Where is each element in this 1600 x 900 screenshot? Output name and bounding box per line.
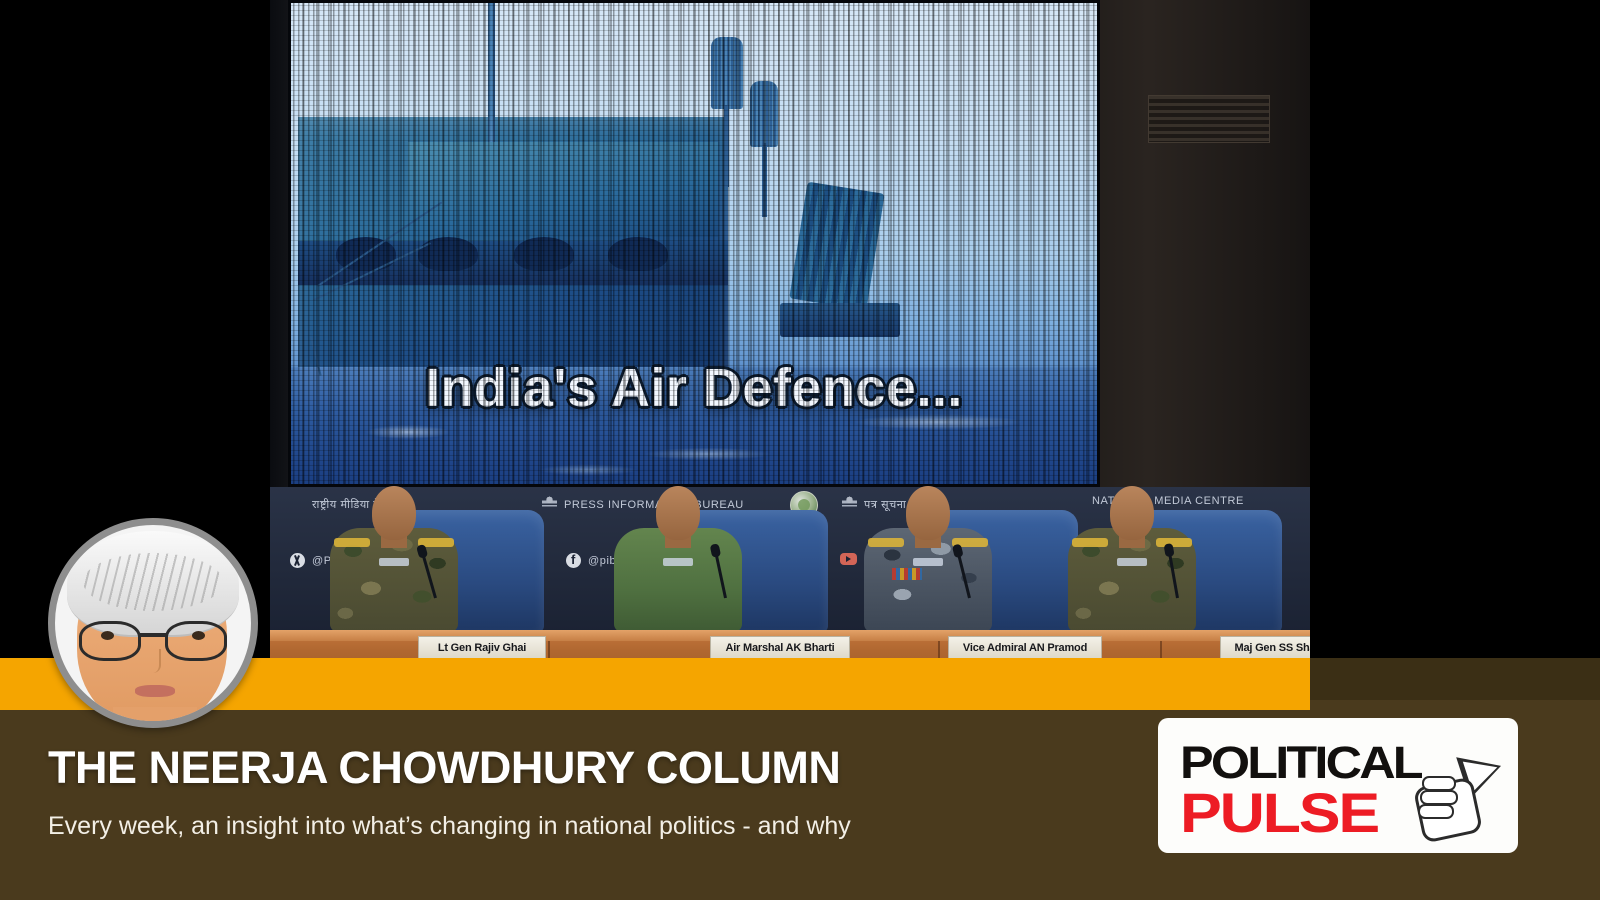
avatar-nose bbox=[147, 649, 161, 673]
right-black-filler bbox=[1310, 0, 1600, 658]
x-twitter-icon bbox=[290, 553, 305, 568]
officer-head bbox=[372, 486, 416, 540]
avatar-mouth bbox=[135, 685, 175, 697]
uniform-badge bbox=[1117, 558, 1147, 566]
avatar-eye-right bbox=[192, 631, 205, 640]
megaphone-icon bbox=[1414, 746, 1502, 838]
hand-finger bbox=[1418, 804, 1454, 819]
ceiling-vent bbox=[1148, 95, 1270, 143]
officer-head bbox=[906, 486, 950, 540]
uniform-badge bbox=[379, 558, 409, 566]
avatar-glasses-bridge bbox=[139, 633, 167, 637]
nameplate-maj-gen-ss-sharda: Maj Gen SS Shar bbox=[1220, 636, 1310, 660]
national-emblem-icon bbox=[842, 495, 857, 514]
epaulette bbox=[868, 538, 904, 547]
avatar-glasses-right bbox=[165, 621, 227, 661]
avatar bbox=[48, 518, 258, 728]
avatar-hair bbox=[67, 531, 239, 637]
medal-ribbons bbox=[892, 568, 922, 580]
avatar-glasses-left bbox=[79, 621, 141, 661]
nameplate-lt-gen-rajiv-ghai: Lt Gen Rajiv Ghai bbox=[418, 636, 546, 660]
hand-finger bbox=[1422, 776, 1456, 791]
led-screen-bezel bbox=[288, 0, 1100, 487]
nameplate-vice-admiral-an-pramod: Vice Admiral AN Pramod bbox=[948, 636, 1102, 660]
officer-head bbox=[1110, 486, 1154, 540]
hand-finger bbox=[1420, 790, 1458, 805]
pilot-wings-badge bbox=[663, 558, 693, 566]
page-title: THE NEERJA CHOWDHURY COLUMN bbox=[48, 742, 840, 794]
national-emblem-icon bbox=[542, 495, 557, 514]
political-pulse-logo[interactable]: POLITICAL PULSE bbox=[1158, 718, 1518, 853]
press-conference-photo: India's Air Defence... राष्ट्रीय मीडिया … bbox=[270, 0, 1310, 690]
facebook-icon bbox=[566, 553, 581, 568]
logo-word-pulse: PULSE bbox=[1180, 780, 1378, 845]
nameplate-air-marshal-ak-bharti: Air Marshal AK Bharti bbox=[710, 636, 850, 660]
epaulette bbox=[334, 538, 370, 547]
pib-text: PRESS INFORMATION BUREAU bbox=[564, 499, 744, 511]
dark-brown-band-right bbox=[1310, 658, 1600, 700]
uniform-badge bbox=[913, 558, 943, 566]
youtube-icon bbox=[840, 553, 857, 565]
banner-graphic: India's Air Defence... राष्ट्रीय मीडिया … bbox=[0, 0, 1600, 900]
officer-head bbox=[656, 486, 700, 540]
led-video-wall: India's Air Defence... bbox=[288, 0, 1100, 487]
epaulette bbox=[1156, 538, 1192, 547]
page-subtitle: Every week, an insight into what’s chang… bbox=[48, 812, 851, 841]
epaulette bbox=[1072, 538, 1108, 547]
avatar-eye-left bbox=[101, 631, 114, 640]
